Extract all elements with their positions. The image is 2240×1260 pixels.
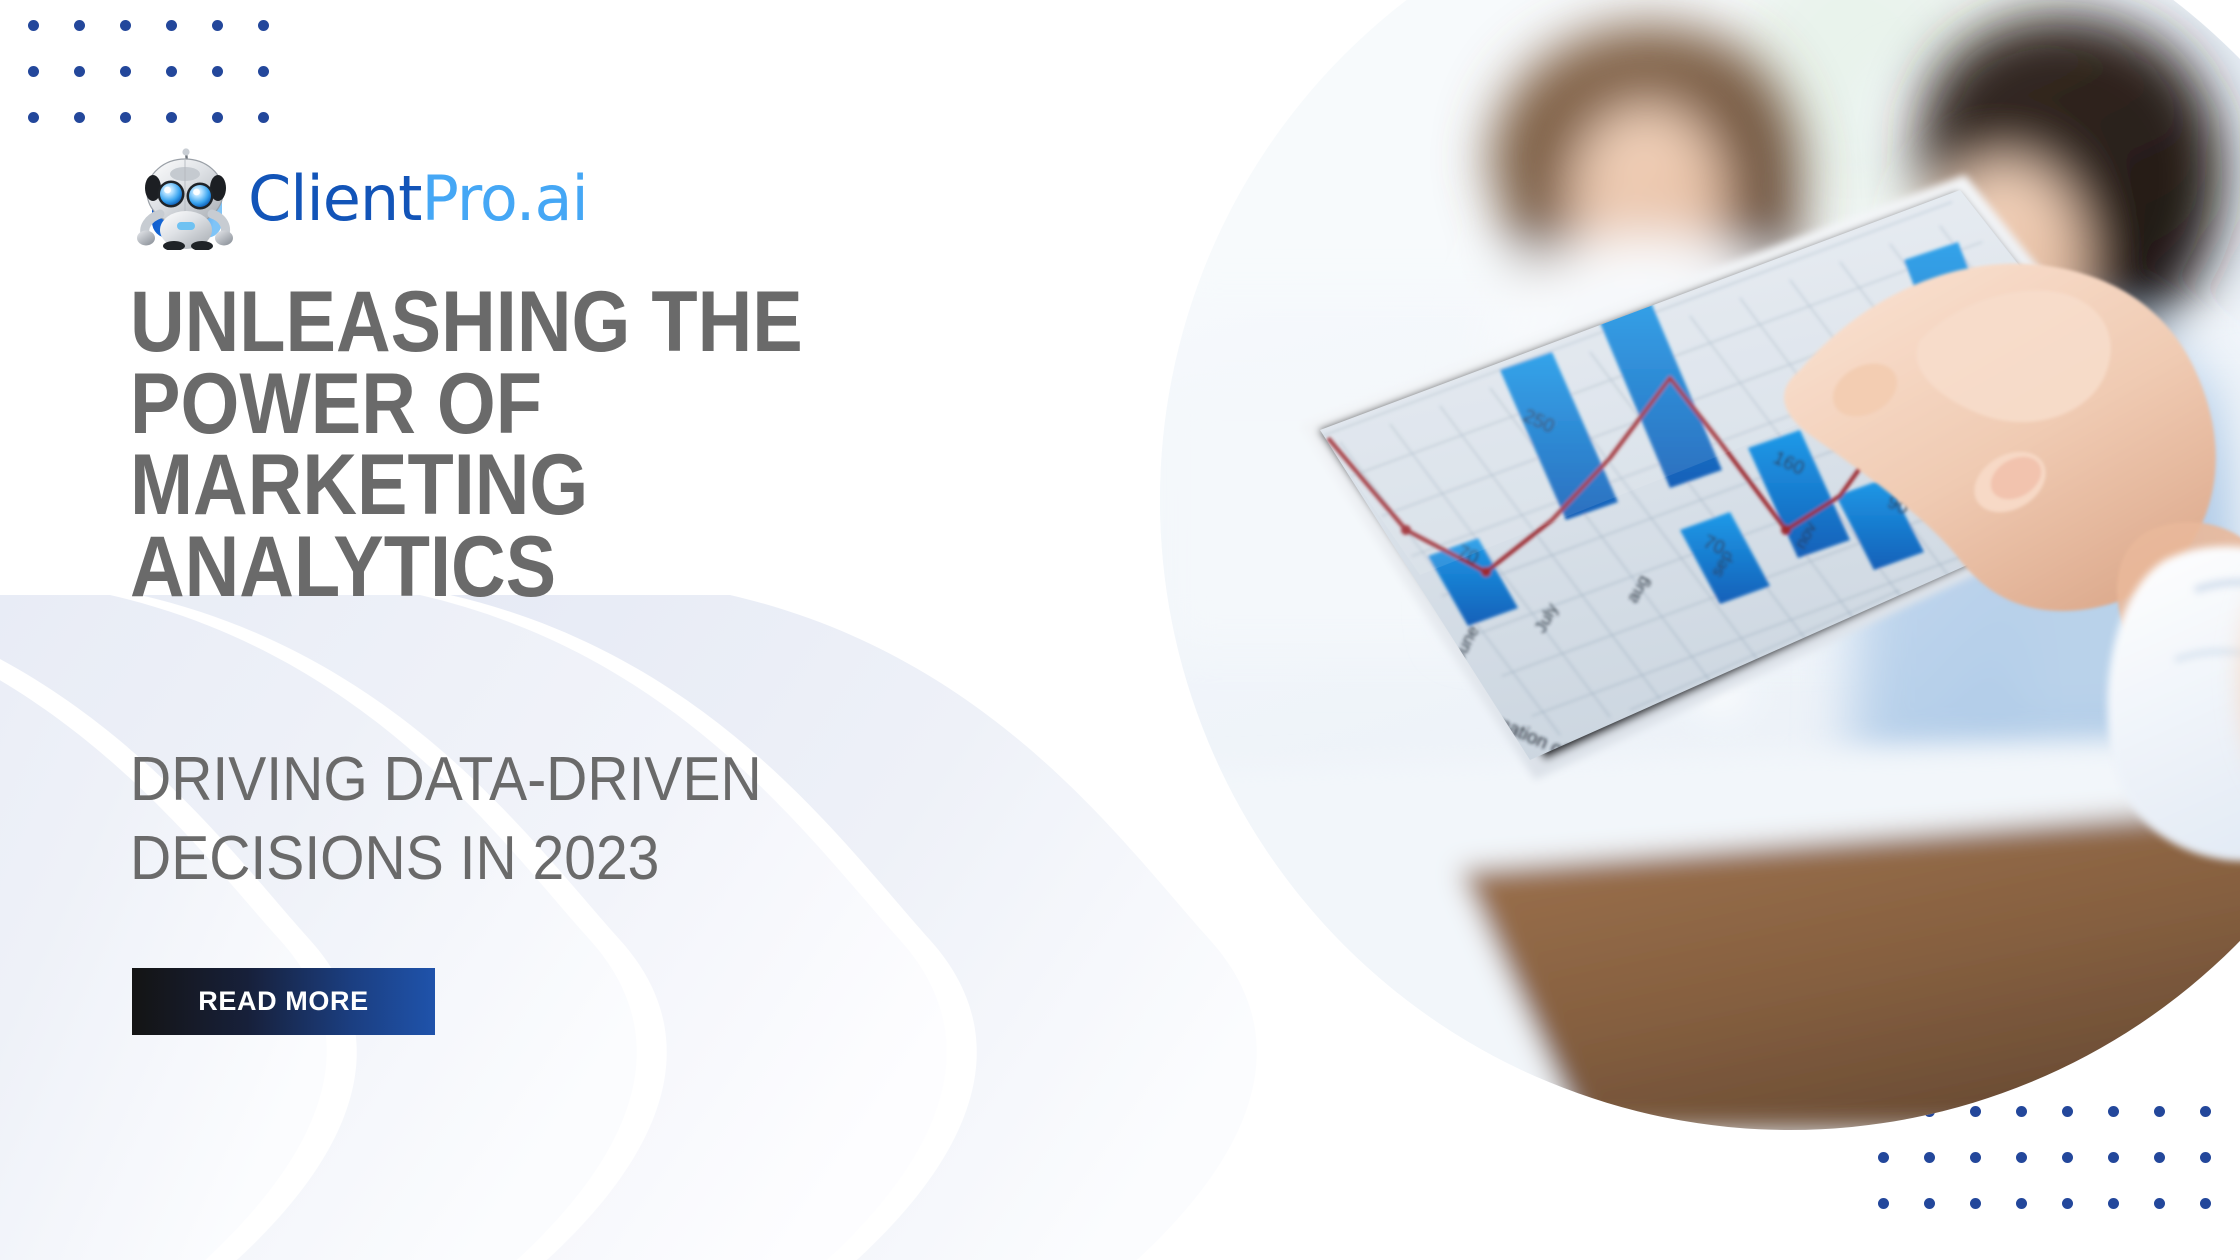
brand-name-client: Client: [248, 162, 422, 235]
headline-line-3: MARKETING: [130, 445, 992, 527]
hero-photo-illustration: 50 70 250 70 160 90 May June July aug se…: [1160, 0, 2240, 1130]
page-title: UNLEASHING THE POWER OF MARKETING ANALYT…: [130, 282, 992, 609]
subheading-line-1: DRIVING DATA-DRIVEN: [130, 740, 1050, 819]
dot: [2062, 1198, 2073, 1209]
robot-mascot-icon: [130, 148, 242, 250]
headline-line-2: POWER OF: [130, 364, 992, 446]
dot: [2200, 1198, 2211, 1209]
dot: [1970, 1152, 1981, 1163]
read-more-label: READ MORE: [198, 986, 368, 1017]
hero-photo-circle: 50 70 250 70 160 90 May June July aug se…: [1160, 0, 2240, 1130]
dot: [2016, 1152, 2027, 1163]
dot: [2154, 1198, 2165, 1209]
brand-logo-text: ClientPro.ai: [248, 168, 588, 230]
dot: [1970, 1198, 1981, 1209]
dot: [1878, 1152, 1889, 1163]
headline-line-1: UNLEASHING THE: [130, 282, 992, 364]
dot: [2062, 1152, 2073, 1163]
dot: [1924, 1198, 1935, 1209]
brand-logo[interactable]: ClientPro.ai: [130, 148, 588, 250]
read-more-button[interactable]: READ MORE: [132, 968, 435, 1035]
page-subtitle: DRIVING DATA-DRIVEN DECISIONS IN 2023: [130, 740, 1050, 899]
dot: [1924, 1152, 1935, 1163]
dot: [2108, 1152, 2119, 1163]
dot: [2108, 1198, 2119, 1209]
dot: [2154, 1152, 2165, 1163]
brand-name-pro: Pro.ai: [422, 162, 588, 235]
subheading-line-2: DECISIONS IN 2023: [130, 819, 1050, 898]
dot: [2016, 1198, 2027, 1209]
dot: [2200, 1152, 2211, 1163]
content-column: ClientPro.ai UNLEASHING THE POWER OF MAR…: [0, 0, 1160, 1260]
marketing-banner: 50 70 250 70 160 90 May June July aug se…: [0, 0, 2240, 1260]
headline-line-4: ANALYTICS: [130, 527, 992, 609]
dot: [1878, 1198, 1889, 1209]
